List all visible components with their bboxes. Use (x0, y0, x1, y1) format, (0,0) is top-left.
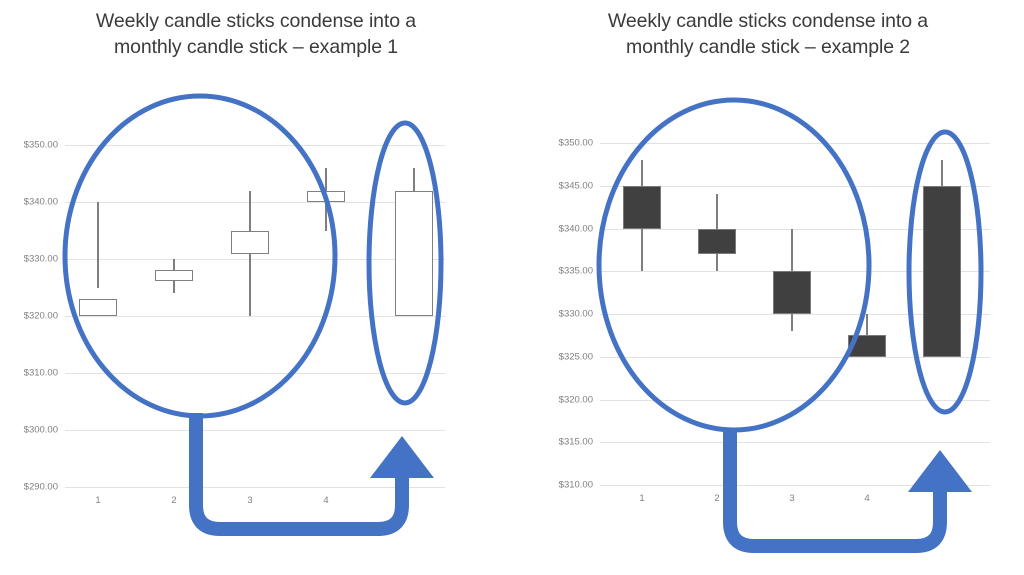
candle-body (623, 186, 661, 229)
x-axis-tick-label: 3 (789, 493, 794, 504)
y-axis-tick-label: $325.00 (559, 351, 593, 362)
candlestick-week-3 (231, 145, 269, 487)
candle-body (307, 191, 345, 202)
candle-body (231, 231, 269, 254)
y-axis-tick-label: $310.00 (559, 480, 593, 491)
x-axis-tick-label: 1 (639, 493, 644, 504)
candlestick-week-1 (79, 145, 117, 487)
x-axis-tick-label: 4 (864, 493, 869, 504)
x-axis-tick-label: 2 (714, 493, 719, 504)
x-axis-tick-label: 3 (247, 495, 252, 506)
y-axis-tick-label: $340.00 (559, 223, 593, 234)
candle-body (773, 271, 811, 314)
y-axis-tick-label: $345.00 (559, 180, 593, 191)
candle-body (155, 270, 193, 281)
y-axis-tick-label: $300.00 (24, 425, 58, 436)
chart-panel-example-2: Weekly candle sticks condense into a mon… (512, 0, 1024, 575)
candlestick-monthly-summary (923, 143, 961, 485)
candlestick-week-4 (307, 145, 345, 487)
x-axis-tick-label: 1 (95, 495, 100, 506)
chart-title-line-2: monthly candle stick – example 2 (542, 34, 994, 60)
candlestick-monthly-summary (395, 145, 433, 487)
y-axis-tick-label: $315.00 (559, 437, 593, 448)
chart-title-example-2: Weekly candle sticks condense into a mon… (542, 8, 994, 60)
y-axis-tick-label: $320.00 (559, 394, 593, 405)
chart-panel-example-1: Weekly candle sticks condense into a mon… (0, 0, 512, 575)
candle-wick (97, 202, 98, 288)
candle-body (395, 191, 433, 316)
y-axis-tick-label: $330.00 (559, 309, 593, 320)
y-axis-tick-label: $340.00 (24, 197, 58, 208)
candle-body (848, 335, 886, 356)
x-axis-tick-label: 4 (323, 495, 328, 506)
x-axis-tick-label: 5 (939, 493, 944, 504)
candlestick-week-3 (773, 143, 811, 485)
gridline: $310.00 (600, 485, 990, 486)
candlestick-week-4 (848, 143, 886, 485)
chart-title-line-1: Weekly candle sticks condense into a (542, 8, 994, 34)
x-axis-tick-label: 2 (171, 495, 176, 506)
gridline: $290.00 (65, 487, 445, 488)
y-axis-tick-label: $350.00 (24, 140, 58, 151)
y-axis-tick-label: $320.00 (24, 311, 58, 322)
candle-body (698, 229, 736, 255)
chart-title-example-1: Weekly candle sticks condense into a mon… (30, 8, 482, 60)
chart-title-line-1: Weekly candle sticks condense into a (30, 8, 482, 34)
candle-body (923, 186, 961, 357)
slide-canvas: Weekly candle sticks condense into a mon… (0, 0, 1024, 575)
candlestick-week-2 (698, 143, 736, 485)
candlestick-week-1 (623, 143, 661, 485)
candle-body (79, 299, 117, 316)
y-axis-tick-label: $335.00 (559, 266, 593, 277)
plot-area-example-2: $350.00 $345.00 $340.00 $335.00 $330.00 … (600, 143, 990, 485)
y-axis-tick-label: $330.00 (24, 254, 58, 265)
chart-title-line-2: monthly candle stick – example 1 (30, 34, 482, 60)
plot-area-example-1: $350.00 $340.00 $330.00 $320.00 $310.00 … (65, 145, 445, 487)
candlestick-week-2 (155, 145, 193, 487)
y-axis-tick-label: $350.00 (559, 138, 593, 149)
y-axis-tick-label: $290.00 (24, 482, 58, 493)
y-axis-tick-label: $310.00 (24, 368, 58, 379)
